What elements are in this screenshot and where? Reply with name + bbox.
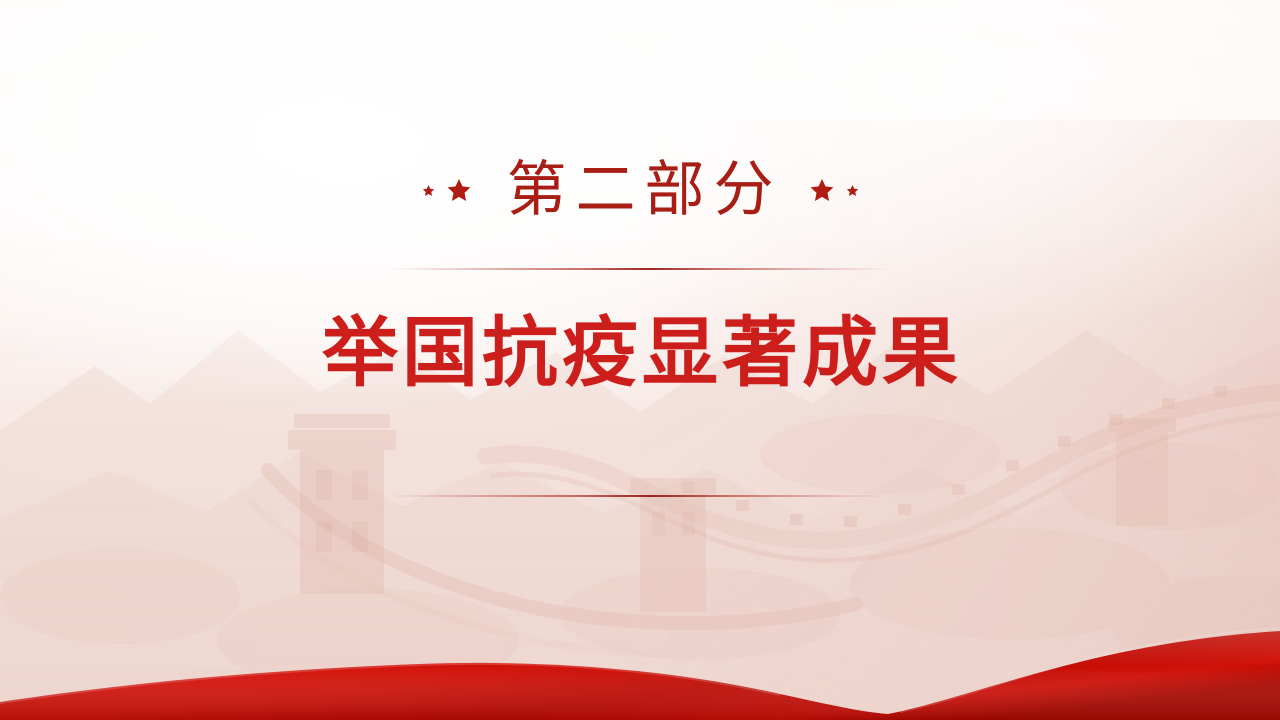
page-title: 举国抗疫显著成果 [318,316,962,392]
section-title-slide: 第二部分 举国抗疫显著成果 [0,0,1280,720]
divider-line-top [390,268,890,270]
slide-content: 第二部分 举国抗疫显著成果 [0,0,1280,560]
small-star-icon [846,184,859,197]
divider-line-bottom [390,495,890,497]
left-star-group [422,177,472,203]
section-label: 第二部分 [498,160,783,220]
large-star-icon [809,177,835,203]
red-wave-banner [0,600,1280,720]
right-star-group [809,177,859,203]
small-star-icon [422,184,435,197]
section-label-row: 第二部分 [422,148,859,232]
large-star-icon [446,177,472,203]
